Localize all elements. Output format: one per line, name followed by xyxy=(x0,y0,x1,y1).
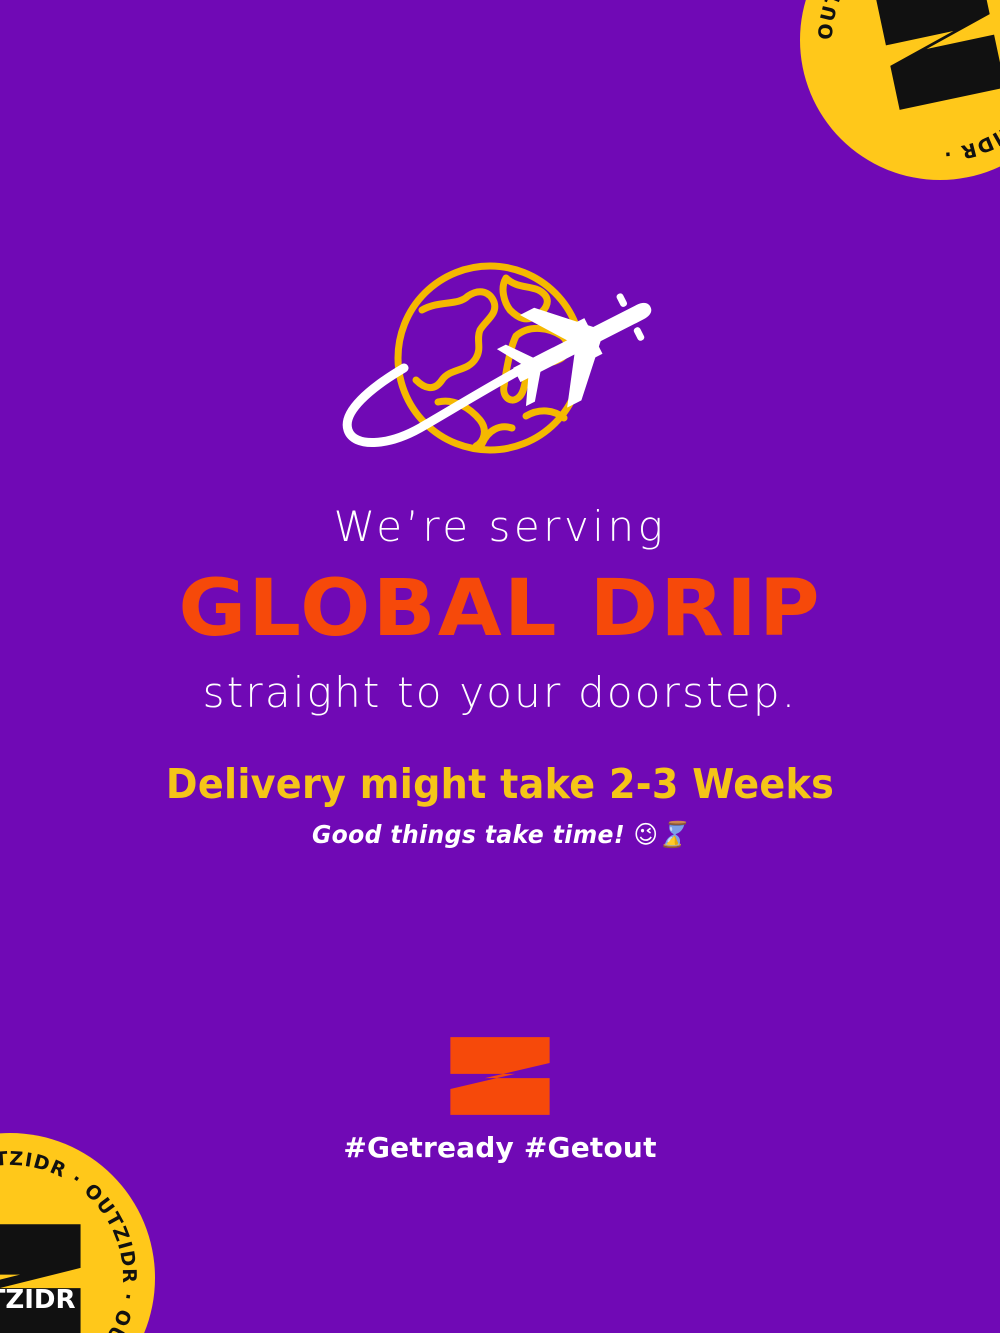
badge-top-right: OUTZIDR · OUTZIDR · OUTZIDR · OUTZIDR · xyxy=(800,0,1000,180)
badge-bottom-left-z-mark xyxy=(0,1194,94,1333)
delivery-headline: Delivery might take 2-3 Weeks xyxy=(35,762,965,807)
footer-block: #Getready #Getout xyxy=(0,1035,1000,1164)
headline-block: We’re serving GLOBAL DRIP straight to yo… xyxy=(0,505,1000,715)
headline-eyebrow: We’re serving xyxy=(0,505,1000,549)
delivery-block: Delivery might take 2-3 Weeks Good thing… xyxy=(0,762,1000,850)
globe-airplane-illustration xyxy=(330,248,670,478)
headline-subhead: straight to your doorstep. xyxy=(0,671,1000,715)
hashtag-line: #Getready #Getout xyxy=(0,1131,1000,1164)
poster-canvas: OUTZIDR · OUTZIDR · OUTZIDR · OUTZIDR · … xyxy=(0,0,1000,1333)
badge-top-right-z-mark xyxy=(865,0,1000,115)
delivery-subtext: Good things take time! 😉⌛ xyxy=(30,820,970,850)
headline-main: GLOBAL DRIP xyxy=(0,563,1000,655)
outzidr-z-logo xyxy=(446,1035,554,1117)
